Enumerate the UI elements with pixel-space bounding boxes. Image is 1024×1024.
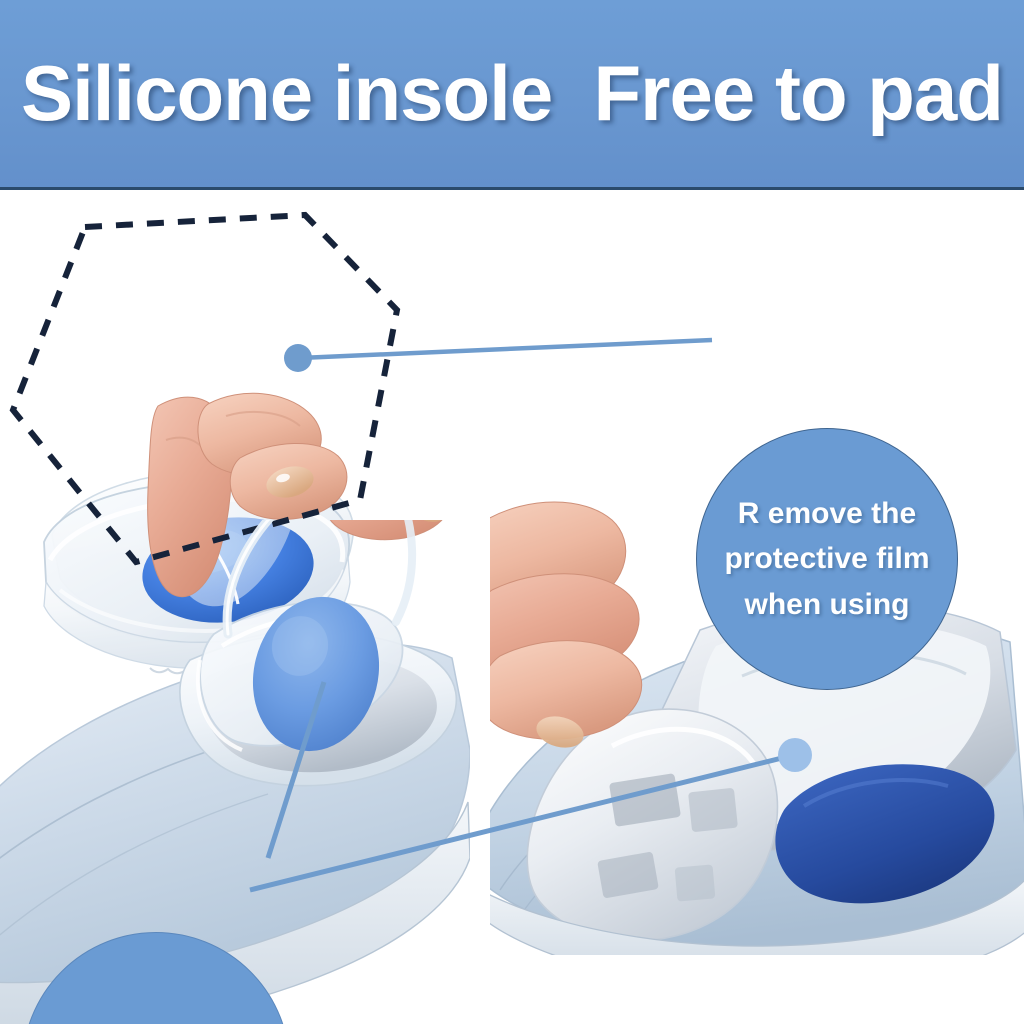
page-title: Silicone insole Free to pad	[0, 0, 1024, 187]
infographic-canvas: Silicone insole Free to pad	[0, 0, 1024, 1024]
photo-area: R emove the protective film when using I…	[0, 190, 1024, 1024]
header-band: Silicone insole Free to pad	[0, 0, 1024, 190]
connector-remove-film	[284, 340, 712, 372]
callout-remove-film-label: R emove the protective film when using	[724, 491, 929, 628]
connector-dot-remove	[284, 344, 312, 372]
connector-dot-insert	[778, 738, 812, 772]
callout-remove-film[interactable]: R emove the protective film when using	[696, 428, 958, 690]
